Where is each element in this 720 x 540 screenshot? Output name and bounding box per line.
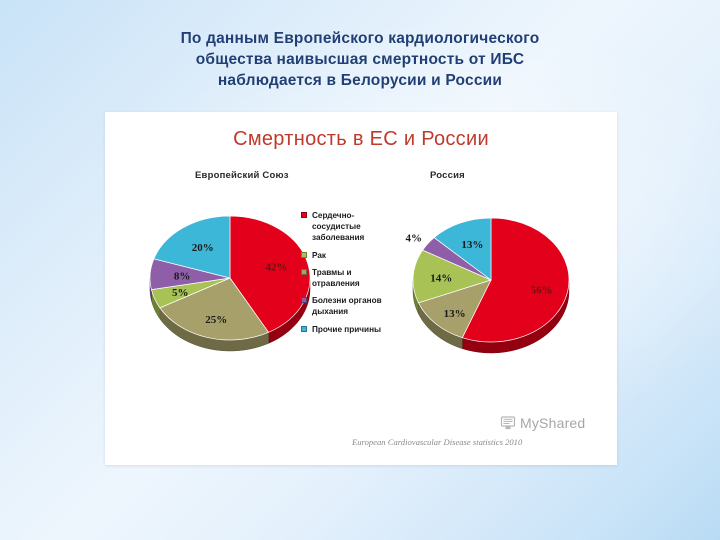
chart-title: Смертность в ЕС и России <box>105 128 617 151</box>
legend-item-injuries: Травмы и отравления <box>301 267 387 289</box>
pie-chart-ru: 56%13%14%4%13% <box>405 204 575 376</box>
pie-eu-svg: 42%25%5%8%20% <box>147 200 317 376</box>
chart-legend: Сердечно-сосудистые заболевания Рак Трав… <box>301 210 387 341</box>
myshared-icon <box>500 415 516 431</box>
legend-swatch-icon <box>301 212 307 218</box>
watermark: MyShared <box>500 415 585 431</box>
pie-slice-label: 25% <box>205 314 227 326</box>
chart-panel: Смертность в ЕС и России Европейский Сою… <box>105 112 617 465</box>
pie-ru-svg: 56%13%14%4%13% <box>405 204 575 376</box>
watermark-label: MyShared <box>520 415 585 431</box>
pie-slice-label: 56% <box>531 285 553 297</box>
legend-swatch-icon <box>301 269 307 275</box>
legend-item-label: Прочие причины <box>312 324 387 335</box>
presentation-slide: По данным Европейского кардиологического… <box>0 0 720 540</box>
legend-item-cancer: Рак <box>301 250 387 261</box>
pie-slice-label: 8% <box>174 271 191 283</box>
legend-item-respiratory: Болезни органов дыхания <box>301 295 387 317</box>
source-note: European Cardiovascular Disease statisti… <box>352 437 522 447</box>
legend-item-other: Прочие причины <box>301 324 387 335</box>
legend-item-cardiovascular: Сердечно-сосудистые заболевания <box>301 210 387 244</box>
pie-slice-label: 14% <box>430 273 452 285</box>
pie-slice-label: 4% <box>406 233 423 245</box>
legend-item-label: Рак <box>312 250 387 261</box>
slide-title-line-2: общества наивысшая смертность от ИБС <box>60 49 660 70</box>
pie-caption-ru: Россия <box>430 170 465 181</box>
pie-slice-label: 13% <box>444 308 466 320</box>
slide-title-line-3: наблюдается в Белорусии и России <box>60 70 660 91</box>
pie-chart-eu: 42%25%5%8%20% <box>147 200 317 376</box>
pie-caption-eu: Европейский Союз <box>195 170 289 181</box>
legend-item-label: Травмы и отравления <box>312 267 387 289</box>
pie-slice-label: 13% <box>461 239 483 251</box>
legend-item-label: Сердечно-сосудистые заболевания <box>312 210 387 244</box>
legend-swatch-icon <box>301 297 307 303</box>
slide-title-line-1: По данным Европейского кардиологического <box>60 28 660 49</box>
pie-slice-label: 20% <box>192 242 214 254</box>
legend-swatch-icon <box>301 252 307 258</box>
pie-slice-label: 5% <box>172 287 189 299</box>
pie-slice-label: 42% <box>266 262 288 274</box>
legend-item-label: Болезни органов дыхания <box>312 295 387 317</box>
legend-swatch-icon <box>301 326 307 332</box>
slide-title: По данным Европейского кардиологического… <box>60 28 660 91</box>
